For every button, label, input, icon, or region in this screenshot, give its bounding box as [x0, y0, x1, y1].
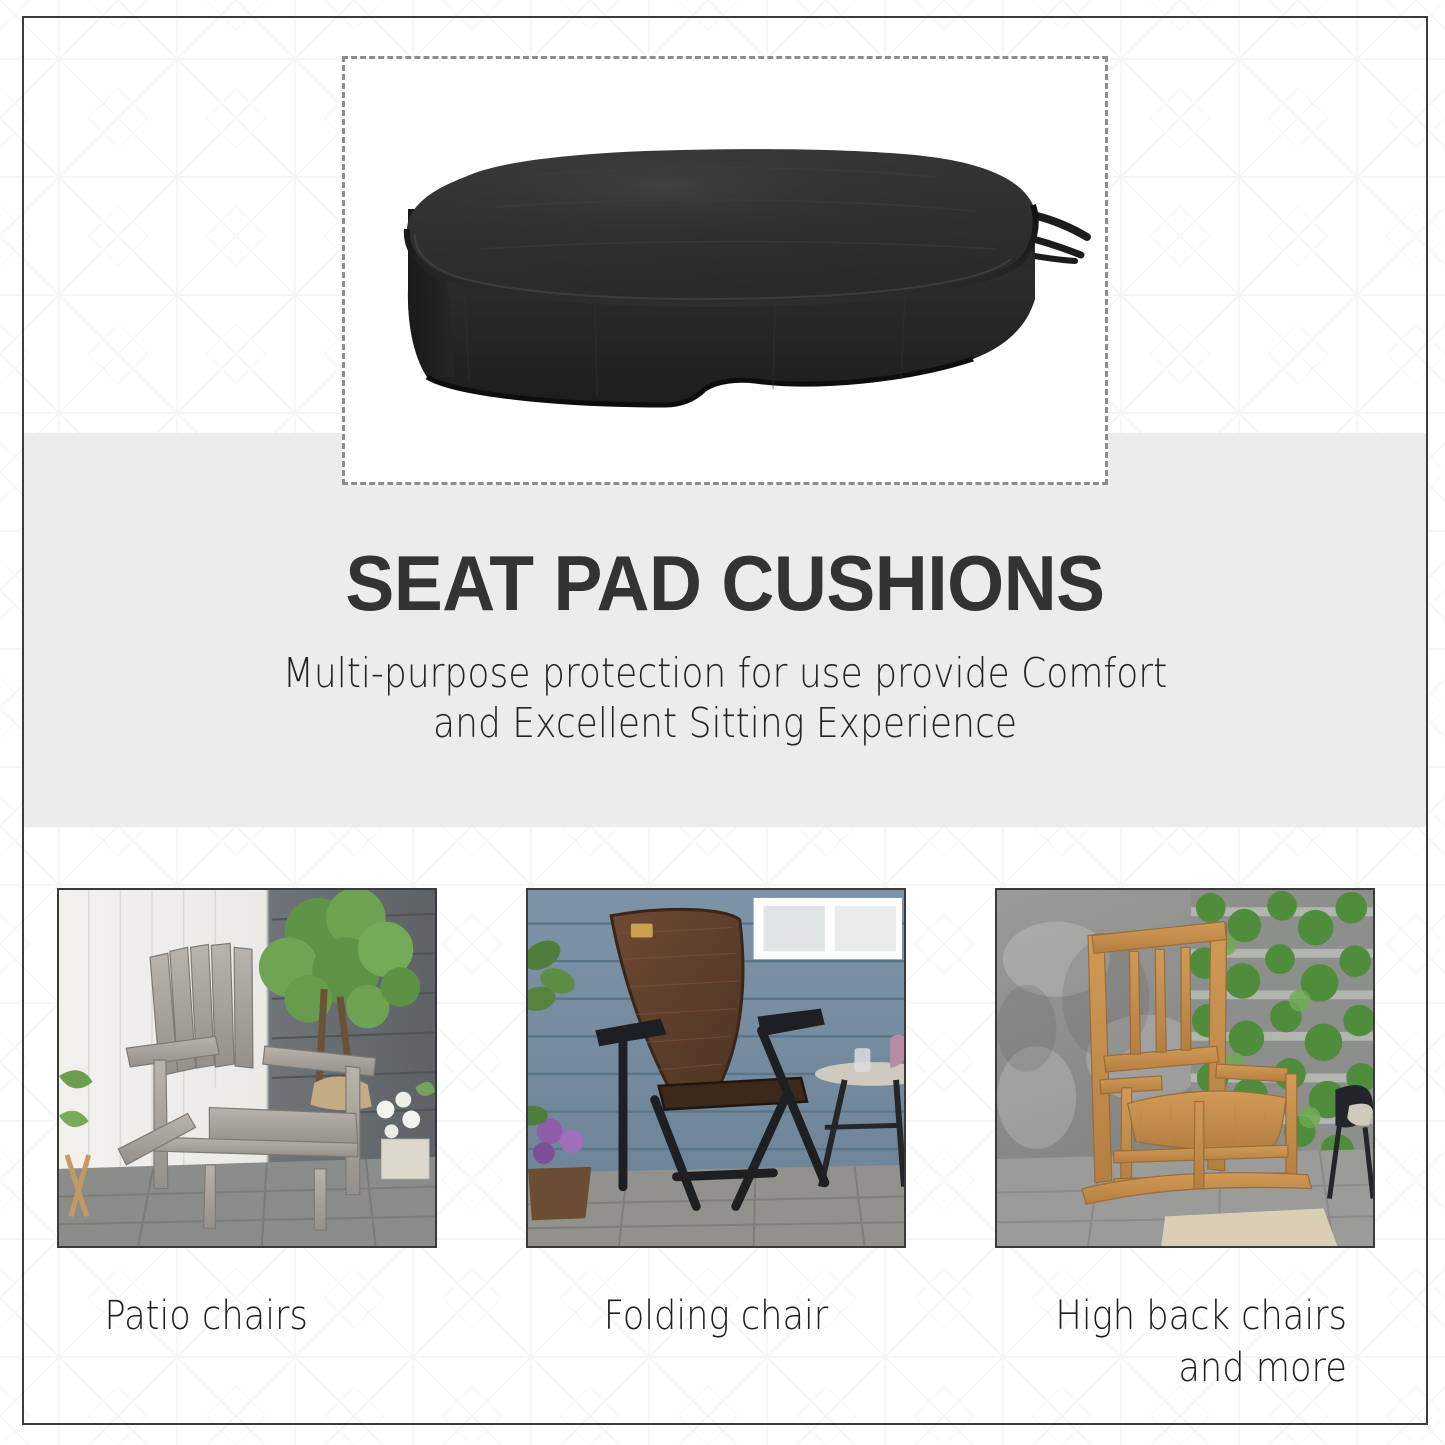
- subtitle-line-2: and Excellent Sitting Experience: [108, 698, 1342, 748]
- caption-line-2: and more: [1178, 1345, 1347, 1391]
- use-case-gallery: [57, 888, 1375, 1248]
- page-subtitle: Multi-purpose protection for use provide…: [108, 648, 1342, 748]
- product-hero-dashed-box: [342, 56, 1108, 485]
- page-title: SEAT PAD CUSHIONS: [66, 540, 1384, 626]
- headline-block: SEAT PAD CUSHIONS Multi-purpose protecti…: [24, 540, 1426, 748]
- caption-high-back-chairs: High back chairs and more: [1018, 1290, 1352, 1394]
- gallery-captions: Patio chairs Folding chair High back cha…: [57, 1290, 1375, 1394]
- patio-adirondack-chair-photo: [57, 888, 437, 1248]
- window: [754, 898, 902, 959]
- seat-pad-cushion-illustration: [345, 59, 1111, 488]
- wooden-rocking-chair-photo: [995, 888, 1375, 1248]
- caption-patio-chairs: Patio chairs: [80, 1290, 414, 1394]
- folding-rattan-chair-photo: [526, 888, 906, 1248]
- caption-folding-chair: Folding chair: [549, 1290, 883, 1394]
- subtitle-line-1: Multi-purpose protection for use provide…: [108, 648, 1342, 698]
- caption-line-1: High back chairs: [1055, 1293, 1347, 1339]
